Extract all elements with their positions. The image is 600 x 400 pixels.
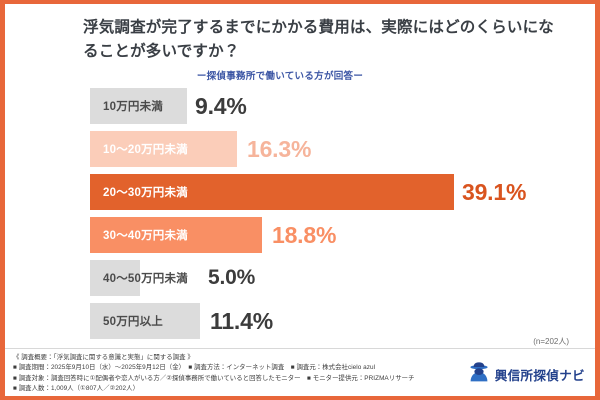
brand-logo[interactable]: 興信所探偵ナビ xyxy=(468,362,585,387)
bar-chart: 10万円未満9.4%10〜20万円未満16.3%20〜30万円未満39.1%30… xyxy=(90,88,560,346)
chart-row: 30〜40万円未満18.8% xyxy=(90,217,560,253)
detective-icon xyxy=(468,362,490,387)
chart-row: 10〜20万円未満16.3% xyxy=(90,131,560,167)
survey-overview: 《 調査概要：「浮気調査に関する意識と実態」に関する調査 》 ■ 調査期間：20… xyxy=(13,353,483,395)
survey-overview-line-1: 《 調査概要：「浮気調査に関する意識と実態」に関する調査 》 xyxy=(13,353,483,363)
respondent-subtitle: ー探偵事務所で働いている方が回答ー xyxy=(83,68,567,82)
bar-value-label: 18.8% xyxy=(272,217,336,253)
heading-block: 浮気調査が完了するまでにかかる費用は、実際にはどのくらいになることが多いですか？… xyxy=(5,4,595,82)
chart-row: 20〜30万円未満39.1% xyxy=(90,174,560,210)
survey-overview-line-4: ■ 調査人数：1,009人（①807人／②202人） xyxy=(13,384,483,394)
chart-row: 10万円未満9.4% xyxy=(90,88,560,124)
bar-category-label: 10〜20万円未満 xyxy=(103,141,188,157)
bar-category-label: 10万円未満 xyxy=(103,98,163,114)
chart-row: 40〜50万円未満5.0% xyxy=(90,260,560,296)
footer: 《 調査概要：「浮気調査に関する意識と実態」に関する調査 》 ■ 調査期間：20… xyxy=(5,348,595,396)
survey-overview-line-3: ■ 調査対象：調査回答時に①配偶者や恋人がいる方／②探偵事務所で働いていると回答… xyxy=(13,374,483,384)
bar-segment: 10〜20万円未満 xyxy=(90,131,237,167)
bar-category-label: 20〜30万円未満 xyxy=(103,184,188,200)
page-title: 浮気調査が完了するまでにかかる費用は、実際にはどのくらいになることが多いですか？ xyxy=(83,16,567,63)
brand-name: 興信所探偵ナビ xyxy=(495,365,585,384)
bar-category-label: 50万円以上 xyxy=(103,313,163,329)
bar-value-label: 5.0% xyxy=(208,260,255,296)
bar-value-label: 11.4% xyxy=(210,303,273,339)
bar-category-label: 40〜50万円未満 xyxy=(90,260,188,296)
bar-segment: 50万円以上 xyxy=(90,303,200,339)
chart-row: 50万円以上11.4% xyxy=(90,303,560,339)
bar-value-label: 16.3% xyxy=(247,131,311,167)
bar-value-label: 9.4% xyxy=(195,88,247,124)
bar-segment: 10万円未満 xyxy=(90,88,187,124)
bar-value-label: 39.1% xyxy=(462,174,526,210)
bar-category-label: 30〜40万円未満 xyxy=(103,227,188,243)
sample-size-note: (n=202人) xyxy=(533,336,569,347)
survey-overview-line-2: ■ 調査期間：2025年9月10日（水）〜2025年9月12日（金） ■ 調査方… xyxy=(13,363,483,373)
bar-segment: 30〜40万円未満 xyxy=(90,217,262,253)
bar-segment: 20〜30万円未満 xyxy=(90,174,454,210)
infographic-poster: 浮気調査が完了するまでにかかる費用は、実際にはどのくらいになることが多いですか？… xyxy=(0,0,600,400)
